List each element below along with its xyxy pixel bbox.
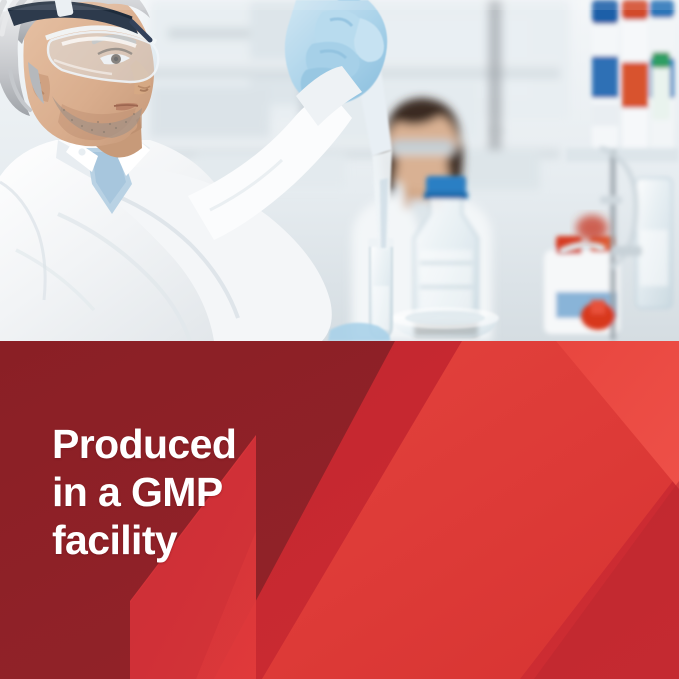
page-title: Produced in a GMP facility bbox=[52, 421, 352, 565]
gmp-facility-banner: Produced in a GMP facility Dairy-Free Eg… bbox=[0, 0, 679, 679]
claims-panel: Produced in a GMP facility Dairy-Free Eg… bbox=[0, 341, 679, 679]
laboratory-photo bbox=[0, 0, 679, 341]
